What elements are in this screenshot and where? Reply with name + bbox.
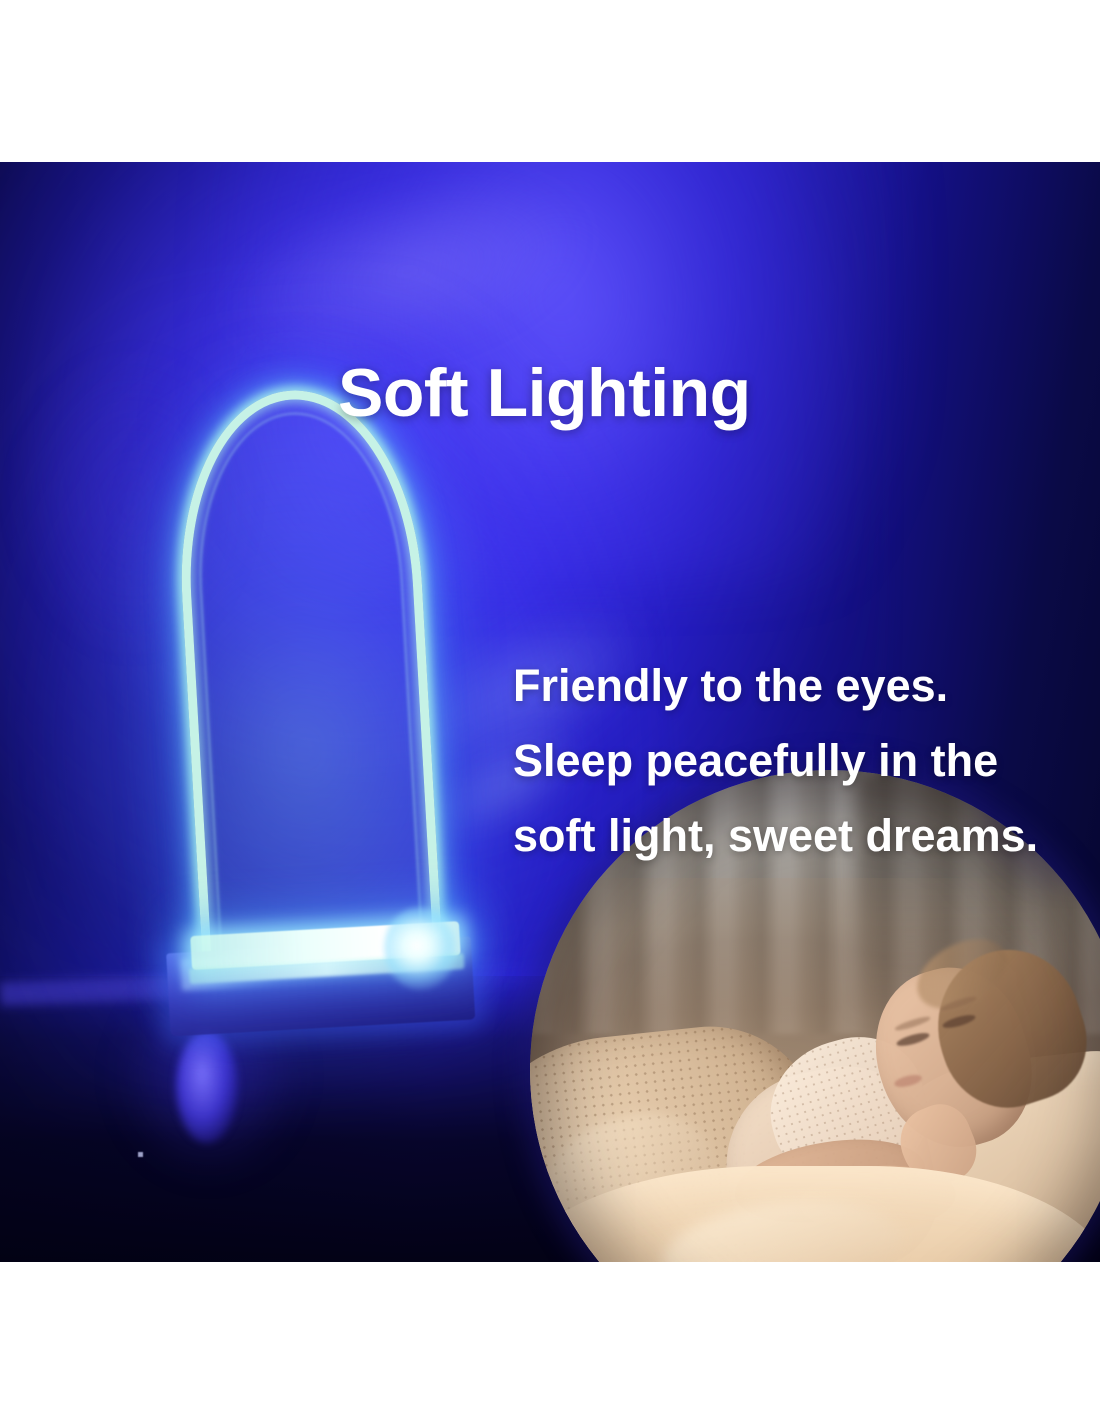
product-marketing-page: Soft Lighting Friendly to the eyes. Slee… — [0, 0, 1100, 1422]
night-light-product — [112, 367, 510, 1024]
specular-dot — [138, 1152, 143, 1157]
marketing-copy: Friendly to the eyes. Sleep peacefully i… — [513, 648, 1073, 873]
page-title: Soft Lighting — [338, 359, 751, 427]
copy-line-2: Sleep peacefully in the — [513, 723, 1073, 798]
copy-line-3: soft light, sweet dreams. — [513, 798, 1073, 873]
product-photo-panel: Soft Lighting Friendly to the eyes. Slee… — [0, 162, 1100, 1262]
copy-line-1: Friendly to the eyes. — [513, 648, 1073, 723]
